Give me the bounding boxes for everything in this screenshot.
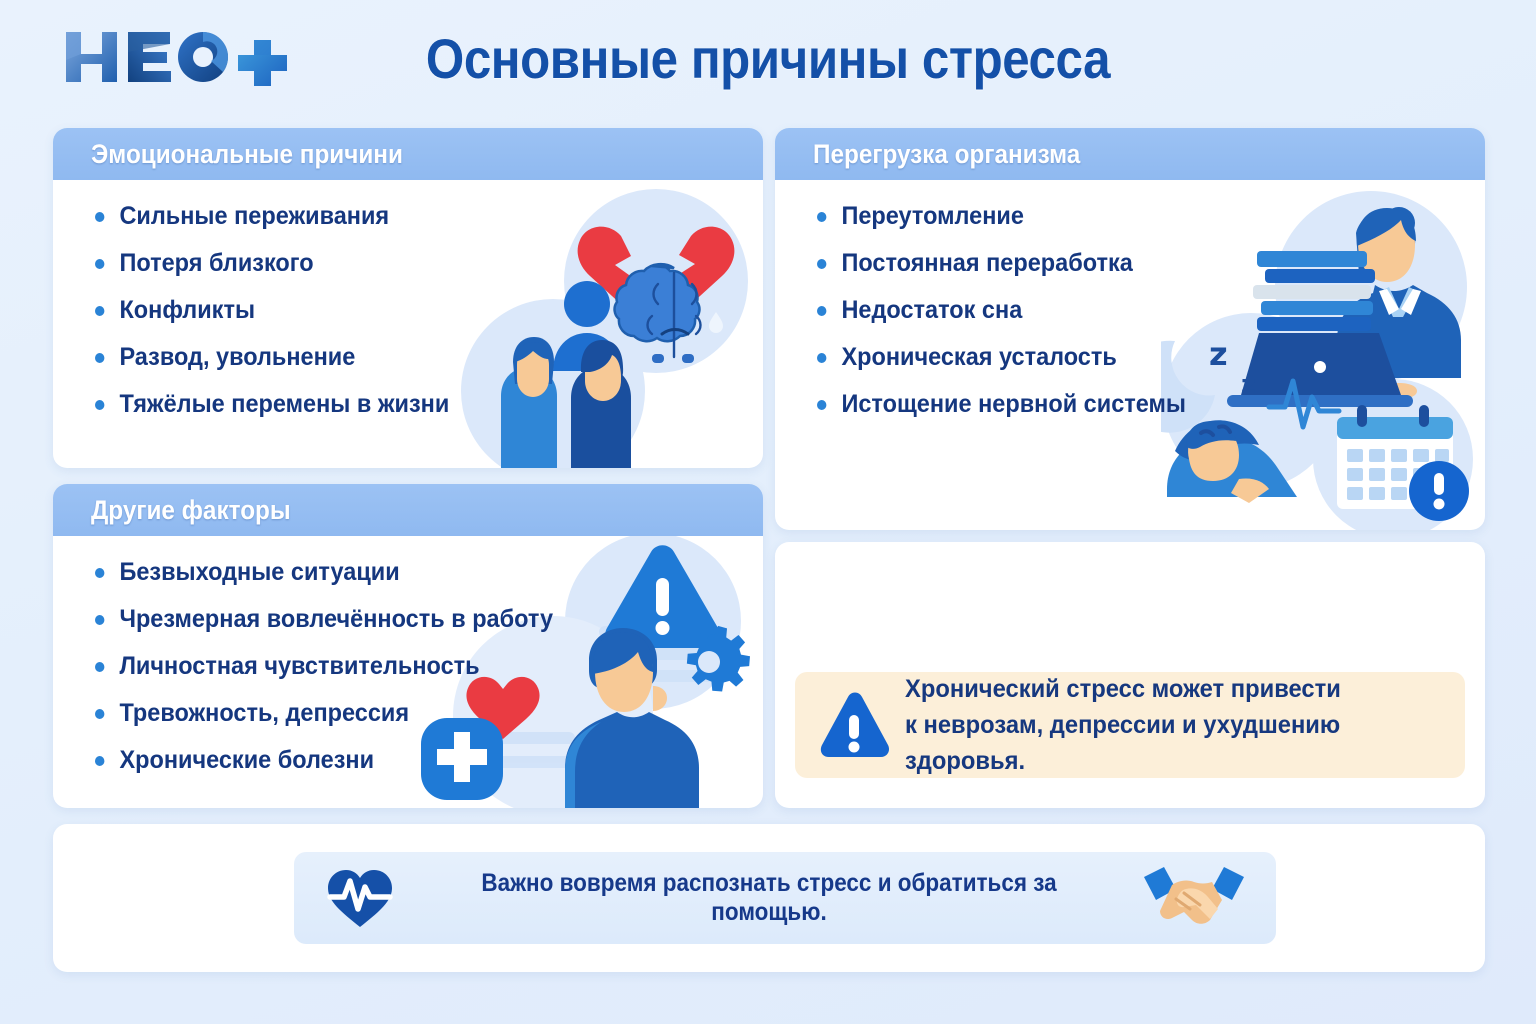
card-title-emotional: Эмоциональные причини <box>91 139 403 170</box>
list-item: Чрезмерная вовлечённость в работу <box>95 605 723 634</box>
list-item-label: Истощение нервной системы <box>841 390 1186 419</box>
card-header-overload: Перегрузка организма <box>775 128 1485 180</box>
list-item: Хроническая усталость <box>817 343 1445 372</box>
list-item-label: Потеря близкого <box>119 249 313 278</box>
list-item: Конфликты <box>95 296 723 325</box>
list-item-label: Хроническая усталость <box>841 343 1116 372</box>
card-body-emotional: Сильные переживания Потеря близкого Конф… <box>53 180 763 468</box>
bullet-list-emotional: Сильные переживания Потеря близкого Конф… <box>53 180 763 419</box>
bullet-dot-icon <box>95 400 104 410</box>
card-body-other: Безвыходные ситуации Чрезмерная вовлечён… <box>53 536 763 808</box>
callout-line-1: Хронический стресс может привести <box>905 671 1416 707</box>
list-item: Потеря близкого <box>95 249 723 278</box>
warning-callout: Хронический стресс может привести к невр… <box>795 672 1465 778</box>
callout-text: Хронический стресс может привести к невр… <box>905 671 1416 780</box>
bullet-dot-icon <box>95 306 104 316</box>
handshake-icon-wrap <box>1142 863 1246 934</box>
list-item: Истощение нервной системы <box>817 390 1445 419</box>
bullet-dot-icon <box>95 353 104 363</box>
bullet-dot-icon <box>95 756 104 766</box>
heartbeat-icon <box>324 865 396 931</box>
list-item-label: Недостаток сна <box>841 296 1022 325</box>
list-item-label: Тяжёлые перемены в жизни <box>119 390 449 419</box>
card-title-other: Другие факторы <box>91 495 291 526</box>
card-emotional-causes: Эмоциональные причини <box>53 128 763 468</box>
list-item-label: Безвыходные ситуации <box>119 558 399 587</box>
bullet-dot-icon <box>95 615 104 625</box>
infographic-page: Основные причины стресса Эмоциональные п… <box>0 0 1536 1024</box>
list-item-label: Постоянная переработка <box>841 249 1132 278</box>
bullet-dot-icon <box>95 259 104 269</box>
bullet-dot-icon <box>95 212 104 222</box>
bullet-dot-icon <box>95 709 104 719</box>
footer-banner: Важно вовремя распознать стресс и обрати… <box>294 852 1276 944</box>
bullet-list-overload: Переутомление Постоянная переработка Нед… <box>775 180 1485 419</box>
list-item-label: Развод, увольнение <box>119 343 355 372</box>
bullet-dot-icon <box>95 568 104 578</box>
list-item: Хронические болезни <box>95 746 723 775</box>
handshake-icon <box>1142 863 1246 929</box>
card-title-overload: Перегрузка организма <box>813 139 1080 170</box>
bullet-dot-icon <box>817 400 826 410</box>
list-item-label: Тревожность, депрессия <box>119 699 409 728</box>
list-item-label: Хронические болезни <box>119 746 374 775</box>
card-other-factors: Другие факторы <box>53 484 763 808</box>
card-body-overload-inner: z z <box>775 180 1485 530</box>
list-item: Личностная чувствительность <box>95 652 723 681</box>
list-item-label: Сильные переживания <box>119 202 389 231</box>
card-header-emotional: Эмоциональные причини <box>53 128 763 180</box>
bullet-dot-icon <box>817 259 826 269</box>
card-header-other: Другие факторы <box>53 484 763 536</box>
list-item: Развод, увольнение <box>95 343 723 372</box>
callout-line-2: к неврозам, депрессии и ухудшению здоров… <box>905 707 1416 780</box>
bullet-dot-icon <box>817 306 826 316</box>
list-item: Недостаток сна <box>817 296 1445 325</box>
bullet-list-other: Безвыходные ситуации Чрезмерная вовлечён… <box>53 536 763 775</box>
list-item-label: Конфликты <box>119 296 255 325</box>
list-item: Переутомление <box>817 202 1445 231</box>
bullet-dot-icon <box>95 662 104 672</box>
list-item-label: Личностная чувствительность <box>119 652 479 681</box>
list-item: Тревожность, депрессия <box>95 699 723 728</box>
list-item: Сильные переживания <box>95 202 723 231</box>
page-title: Основные причины стресса <box>92 26 1444 91</box>
list-item: Постоянная переработка <box>817 249 1445 278</box>
warning-triangle-icon <box>817 691 891 759</box>
bullet-dot-icon <box>817 353 826 363</box>
card-body-overload: Перегрузка организма <box>775 128 1485 530</box>
list-item-label: Переутомление <box>841 202 1023 231</box>
bullet-dot-icon <box>817 212 826 222</box>
list-item: Тяжёлые перемены в жизни <box>95 390 723 419</box>
list-item-label: Чрезмерная вовлечённость в работу <box>119 605 553 634</box>
footer-text: Важно вовремя распознать стресс и обрати… <box>433 869 1104 927</box>
list-item: Безвыходные ситуации <box>95 558 723 587</box>
